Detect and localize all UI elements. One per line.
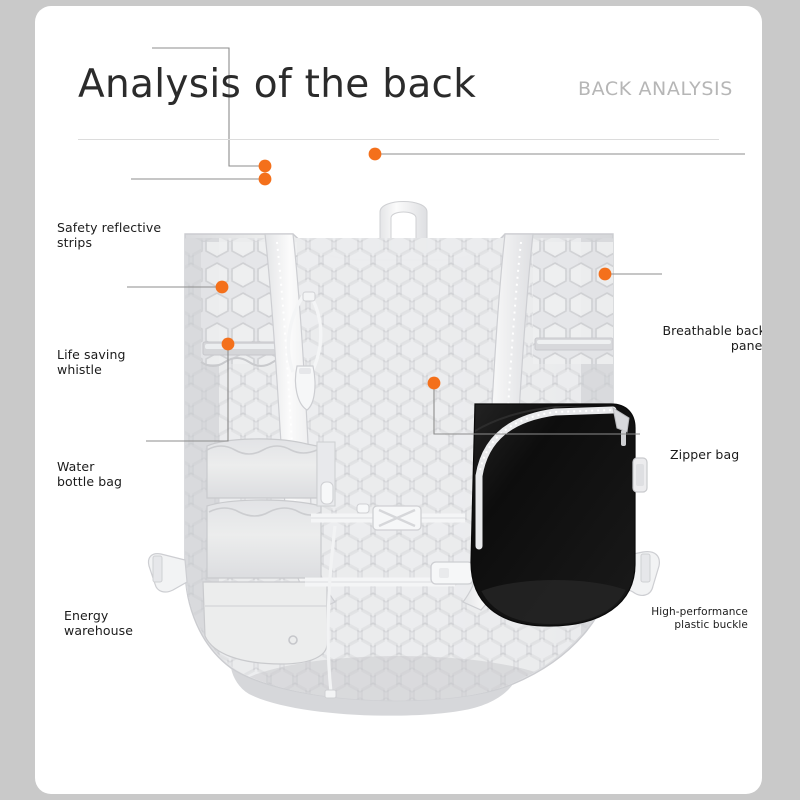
- annotation-label-energy-warehouse: Energy warehouse: [64, 608, 133, 638]
- page-header: Analysis of the back BACK ANALYSIS: [78, 62, 723, 152]
- page-title: Analysis of the back: [78, 62, 476, 107]
- content-card: Analysis of the back BACK ANALYSIS Safet…: [35, 6, 762, 794]
- annotation-label-water-bottle-bag: Water bottle bag: [57, 459, 122, 489]
- header-divider: [78, 139, 719, 140]
- annotation-label-breathable-back-panel: Breathable back panel: [516, 323, 762, 353]
- annotation-label-high-performance-plastic-buckle: High-performance plastic buckle: [534, 606, 748, 632]
- annotation-label-zipper-bag: Zipper bag: [670, 447, 739, 462]
- annotation-label-life-saving-whistle: Life saving whistle: [57, 347, 126, 377]
- page-subtitle: BACK ANALYSIS: [578, 78, 733, 100]
- annotation-label-safety-reflective-strips: Safety reflective strips: [57, 220, 161, 250]
